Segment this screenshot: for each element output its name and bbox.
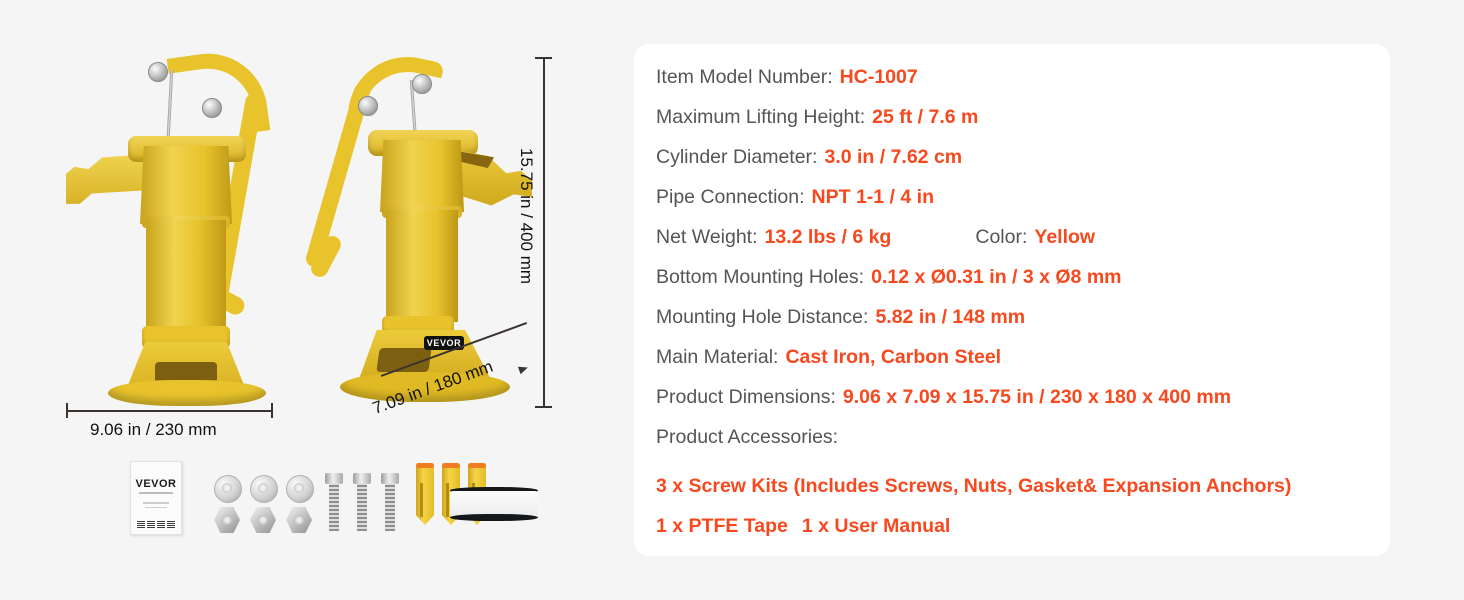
qr-code [157, 520, 165, 528]
accessory-line-screw-kits: 3 x Screw Kits (Includes Screws, Nuts, G… [656, 466, 1390, 506]
spec-label: Mounting Hole Distance: [656, 306, 868, 329]
spec-value: Cast Iron, Carbon Steel [785, 346, 1001, 369]
spec-value: 3.0 in / 7.62 cm [824, 146, 962, 169]
spec-label: Product Accessories: [656, 426, 838, 449]
washer [286, 475, 314, 503]
height-dimension-cap-bottom [535, 406, 552, 408]
product-spec-graphic: VEVOR 9.06 in / 230 mm 15.75 in / 400 mm… [0, 0, 1464, 600]
height-dimension-label: 15.75 in / 400 mm [516, 148, 536, 284]
expansion-anchor [416, 463, 434, 525]
nut [250, 507, 276, 533]
spec-row-accessories: Product Accessories: [656, 426, 1390, 466]
spec-label: Cylinder Diameter: [656, 146, 817, 169]
specification-card: Item Model Number: HC-1007 Maximum Lifti… [634, 44, 1390, 556]
screw [384, 473, 396, 531]
pivot-bolt-lower [202, 98, 222, 118]
anchor-slot [446, 483, 449, 517]
spec-label: Item Model Number: [656, 66, 833, 89]
spec-label: Bottom Mounting Holes: [656, 266, 864, 289]
spec-label: Pipe Connection: [656, 186, 805, 209]
screw [328, 473, 340, 531]
washer [250, 475, 278, 503]
screw-shaft [357, 483, 367, 531]
pump-cylinder [146, 220, 226, 332]
pump-cylinder [386, 210, 458, 322]
spec-row-lifting-height: Maximum Lifting Height: 25 ft / 7.6 m [656, 106, 1390, 146]
spec-label: Color: [975, 226, 1027, 249]
base-flange [108, 380, 266, 406]
screw-shaft [385, 483, 395, 531]
spec-label: Main Material: [656, 346, 778, 369]
user-manual-image: VEVOR [130, 461, 182, 535]
specification-list: Item Model Number: HC-1007 Maximum Lifti… [634, 44, 1390, 546]
ptfe-tape-roll [450, 487, 538, 521]
manual-qr-row [137, 520, 175, 528]
spec-row-weight-color: Net Weight: 13.2 lbs / 6 kg Color: Yello… [656, 226, 1390, 266]
manual-text-line [143, 502, 169, 504]
pivot-bolt-lower [358, 96, 378, 116]
nut [214, 507, 240, 533]
pump-angled-view-image: VEVOR [300, 50, 550, 420]
spec-value: 25 ft / 7.6 m [872, 106, 978, 129]
manual-text-line [145, 507, 167, 509]
accessory-user-manual: 1 x User Manual [802, 515, 950, 538]
tape-rim-bottom [450, 514, 538, 521]
width-dimension-label: 9.06 in / 230 mm [90, 420, 217, 440]
spec-label: Maximum Lifting Height: [656, 106, 865, 129]
spec-row-hole-distance: Mounting Hole Distance: 5.82 in / 148 mm [656, 306, 1390, 346]
manual-tagline [139, 492, 173, 494]
spec-label: Product Dimensions: [656, 386, 836, 409]
accessories-strip: VEVOR [130, 455, 550, 550]
anchor-top [468, 463, 486, 468]
pivot-bolt-upper [148, 62, 168, 82]
screw [356, 473, 368, 531]
accessory-line-tape-manual: 1 x PTFE Tape 1 x User Manual [656, 506, 1390, 546]
spec-row-pipe-connection: Pipe Connection: NPT 1-1 / 4 in [656, 186, 1390, 226]
pivot-bolt-upper [412, 74, 432, 94]
product-image-panel: VEVOR 9.06 in / 230 mm 15.75 in / 400 mm… [0, 0, 620, 600]
spec-value: 13.2 lbs / 6 kg [765, 226, 892, 249]
spec-row-main-material: Main Material: Cast Iron, Carbon Steel [656, 346, 1390, 386]
spec-value: 9.06 x 7.09 x 15.75 in / 230 x 180 x 400… [843, 386, 1231, 409]
spec-row-mounting-holes: Bottom Mounting Holes: 0.12 x Ø0.31 in /… [656, 266, 1390, 306]
screw-shaft [329, 483, 339, 531]
spec-label: Net Weight: [656, 226, 758, 249]
manual-logo: VEVOR [135, 478, 176, 490]
qr-code [147, 520, 155, 528]
spec-row-cylinder-diameter: Cylinder Diameter: 3.0 in / 7.62 cm [656, 146, 1390, 186]
width-dimension-cap-right [271, 403, 273, 418]
height-dimension-cap-top [535, 57, 552, 59]
anchor-slot [420, 483, 423, 517]
spec-value: 0.12 x Ø0.31 in / 3 x Ø8 mm [871, 266, 1121, 289]
pump-spout [66, 154, 152, 212]
pump-body [380, 140, 464, 212]
pump-body [140, 146, 232, 224]
anchor-top [416, 463, 434, 468]
spec-value: HC-1007 [840, 66, 918, 89]
qr-code [137, 520, 145, 528]
spec-row-model: Item Model Number: HC-1007 [656, 66, 1390, 106]
qr-code [167, 520, 175, 528]
spec-value: NPT 1-1 / 4 in [812, 186, 934, 209]
height-dimension-line [543, 57, 545, 407]
spec-value: Yellow [1034, 226, 1095, 249]
width-dimension-cap-left [66, 403, 68, 418]
spec-row-product-dimensions: Product Dimensions: 9.06 x 7.09 x 15.75 … [656, 386, 1390, 426]
width-dimension-line [66, 410, 272, 412]
spec-value: 5.82 in / 148 mm [875, 306, 1025, 329]
accessory-ptfe-tape: 1 x PTFE Tape [656, 515, 788, 538]
anchor-top [442, 463, 460, 468]
spec-subrow-color: Color: Yellow [975, 226, 1095, 249]
pump-side-view-image [60, 50, 310, 420]
nut [286, 507, 312, 533]
washer [214, 475, 242, 503]
